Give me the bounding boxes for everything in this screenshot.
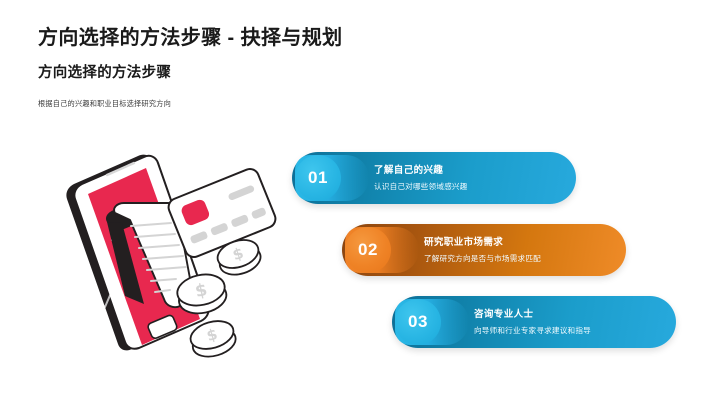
page-subtitle: 方向选择的方法步骤	[38, 61, 678, 82]
step-number-badge: 01	[295, 155, 341, 201]
step-description: 向导师和行业专家寻求建议和指导	[474, 326, 591, 335]
slide-canvas: 方向选择的方法步骤 - 抉择与规划 方向选择的方法步骤 根据自己的兴趣和职业目标…	[0, 0, 720, 405]
step-item-03[interactable]: 03 咨询专业人士 向导师和行业专家寻求建议和指导	[392, 296, 676, 348]
page-title: 方向选择的方法步骤 - 抉择与规划	[38, 26, 678, 51]
step-number-badge: 03	[395, 299, 441, 345]
slide-header: 方向选择的方法步骤 - 抉择与规划 方向选择的方法步骤 根据自己的兴趣和职业目标…	[38, 26, 678, 109]
step-description: 认识自己对哪些领域感兴趣	[374, 182, 468, 191]
step-description: 了解研究方向是否与市场需求匹配	[424, 254, 541, 263]
step-item-01[interactable]: 01 了解自己的兴趣 认识自己对哪些领域感兴趣	[292, 152, 576, 204]
step-text-group: 咨询专业人士 向导师和行业专家寻求建议和指导	[474, 309, 591, 335]
step-number-badge: 02	[345, 227, 391, 273]
step-item-02[interactable]: 02 研究职业市场需求 了解研究方向是否与市场需求匹配	[342, 224, 626, 276]
step-text-group: 研究职业市场需求 了解研究方向是否与市场需求匹配	[424, 237, 541, 263]
step-title: 研究职业市场需求	[424, 237, 541, 248]
mobile-payment-illustration: $ $ $	[52, 138, 302, 363]
step-title: 咨询专业人士	[474, 309, 591, 320]
step-text-group: 了解自己的兴趣 认识自己对哪些领域感兴趣	[374, 165, 468, 191]
step-title: 了解自己的兴趣	[374, 165, 468, 176]
page-description: 根据自己的兴趣和职业目标选择研究方向	[38, 99, 678, 109]
credit-card-icon	[166, 166, 278, 259]
